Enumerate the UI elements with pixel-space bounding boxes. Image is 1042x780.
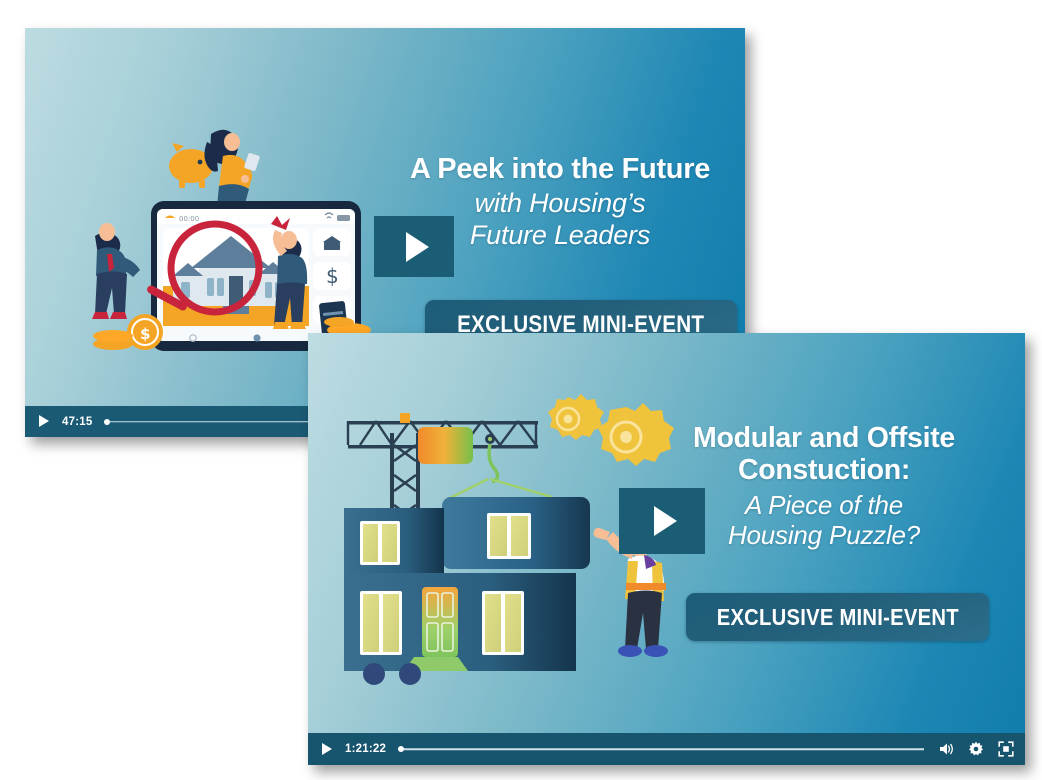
- control-bar-icons: [938, 741, 1014, 757]
- screenshot-stage: 00:00: [0, 0, 1042, 780]
- video-title-block: Modular and Offsite Constuction: A Piece…: [638, 423, 1010, 551]
- video-title-sub-line-1: A Piece of the: [638, 490, 1010, 521]
- scrubber-handle[interactable]: [398, 746, 404, 752]
- progress-scrubber[interactable]: [398, 743, 924, 755]
- badge-label: EXCLUSIVE MINI-EVENT: [716, 604, 958, 631]
- video-title-main: Modular and Offsite Constuction:: [638, 423, 1010, 487]
- svg-text:00:00: 00:00: [179, 215, 199, 223]
- settings-gear-icon[interactable]: [968, 741, 984, 757]
- fullscreen-icon[interactable]: [998, 741, 1014, 757]
- play-button[interactable]: [36, 414, 51, 429]
- video-title-block: A Peek into the Future with Housing’s Fu…: [377, 154, 743, 252]
- play-button[interactable]: [319, 742, 334, 757]
- svg-text:$: $: [326, 264, 339, 288]
- volume-icon[interactable]: [938, 741, 954, 757]
- video-title-sub: with Housing’s Future Leaders: [377, 188, 743, 252]
- time-display: 1:21:22: [345, 743, 386, 755]
- video-control-bar[interactable]: 1:21:22: [308, 733, 1025, 765]
- video-title-main-line-1: Modular and Offsite: [638, 423, 1010, 455]
- video-title-main: A Peek into the Future: [377, 154, 743, 184]
- video-title-sub-line-1: with Housing’s: [377, 188, 743, 220]
- housing-market-tablet-illustration: 00:00: [73, 116, 383, 361]
- video-title-sub-line-2: Future Leaders: [377, 220, 743, 252]
- video-card-modular-offsite-construction[interactable]: Modular and Offsite Constuction: A Piece…: [308, 333, 1025, 765]
- svg-text:$: $: [140, 325, 150, 343]
- time-display: 47:15: [62, 416, 92, 428]
- scrubber-handle[interactable]: [104, 419, 110, 425]
- video-title-main-line-2: Constuction:: [638, 455, 1010, 487]
- video-title-sub-line-2: Housing Puzzle?: [638, 520, 1010, 551]
- exclusive-mini-event-badge: EXCLUSIVE MINI-EVENT: [686, 593, 989, 641]
- video-title-sub: A Piece of the Housing Puzzle?: [638, 490, 1010, 551]
